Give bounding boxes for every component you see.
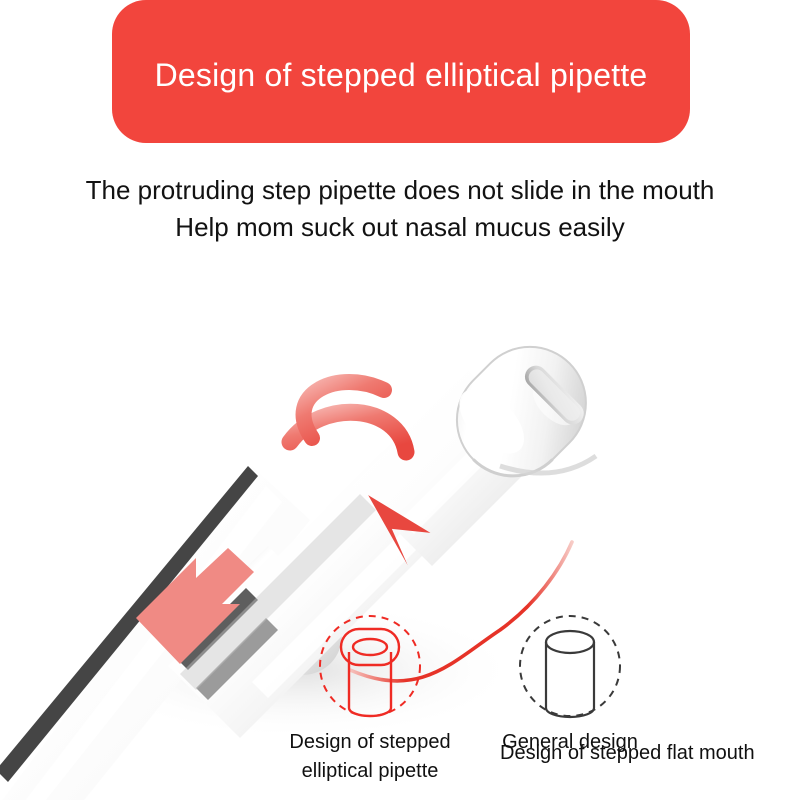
comparison-caption-general-line-1: General design — [470, 728, 670, 757]
comparison-row: Design of stepped elliptical pipette Gen… — [270, 612, 690, 800]
general-pipette-figure — [470, 612, 670, 724]
stepped-pipette-figure — [270, 612, 470, 724]
general-pipette-icon — [505, 612, 635, 724]
comparison-caption-stepped-line-2: elliptical pipette — [270, 757, 470, 786]
comparison-caption-stepped-line-1: Design of stepped — [270, 728, 470, 757]
comparison-caption-stepped: Design of stepped elliptical pipette — [270, 728, 470, 786]
page-title: Design of stepped elliptical pipette — [155, 48, 648, 94]
subtitle-line-1: The protruding step pipette does not sli… — [0, 172, 800, 209]
stepped-pipette-icon — [305, 612, 435, 724]
subtitle-block: The protruding step pipette does not sli… — [0, 172, 800, 246]
comparison-item-stepped: Design of stepped elliptical pipette — [270, 612, 470, 786]
comparison-item-general: General design — [470, 612, 670, 757]
infographic-page: Design of stepped elliptical pipette The… — [0, 0, 800, 800]
header-banner: Design of stepped elliptical pipette — [112, 0, 690, 143]
comparison-caption-general: General design — [470, 728, 670, 757]
subtitle-line-2: Help mom suck out nasal mucus easily — [0, 209, 800, 246]
